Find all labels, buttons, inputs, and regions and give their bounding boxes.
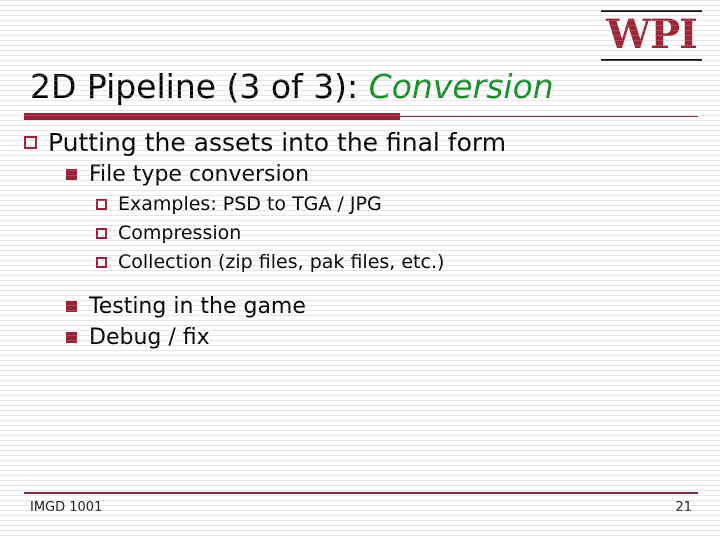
slide-title-main: 2D Pipeline (3 of 3): xyxy=(30,67,369,106)
square-hollow-bullet-icon xyxy=(96,248,118,277)
square-hollow-bullet-icon xyxy=(96,190,118,219)
slide-footer: IMGD 1001 21 xyxy=(30,499,692,517)
title-divider-thin xyxy=(400,116,698,117)
footer-divider xyxy=(24,492,698,494)
square-filled-bullet-icon xyxy=(66,291,89,322)
bullet-item-level3: Collection (zip files, pak files, etc.) xyxy=(96,248,704,277)
logo-rule-bottom xyxy=(601,59,702,61)
title-divider-thick xyxy=(24,113,400,120)
bullet-list: Putting the assets into the final form F… xyxy=(24,126,704,353)
square-filled-bullet-icon xyxy=(66,159,89,190)
bullet-item-level2: Testing in the game xyxy=(66,291,704,322)
bullet-text: Collection (zip files, pak files, etc.) xyxy=(118,248,444,277)
bullet-item-level3: Compression xyxy=(96,219,704,248)
bullet-text: Testing in the game xyxy=(89,291,306,322)
bullet-item-level3: Examples: PSD to TGA / JPG xyxy=(96,190,704,219)
bullet-text: Examples: PSD to TGA / JPG xyxy=(118,190,382,219)
slide-title-accent: Conversion xyxy=(369,67,554,106)
bullet-item-level2: File type conversion xyxy=(66,159,704,190)
slide: WPI 2D Pipeline (3 of 3): Conversion Put… xyxy=(0,0,720,540)
square-hollow-bullet-icon xyxy=(24,126,48,159)
bullet-text: Debug / fix xyxy=(89,322,210,353)
footer-course-label: IMGD 1001 xyxy=(30,499,102,517)
bullet-item-level1: Putting the assets into the final form xyxy=(24,126,704,159)
bullet-text: File type conversion xyxy=(89,159,309,190)
square-hollow-bullet-icon xyxy=(96,219,118,248)
wpi-logo: WPI xyxy=(601,10,702,61)
bullet-text: Putting the assets into the final form xyxy=(48,126,506,159)
title-divider xyxy=(24,113,698,121)
bullet-text: Compression xyxy=(118,219,241,248)
logo-wordmark: WPI xyxy=(601,12,702,59)
square-filled-bullet-icon xyxy=(66,322,89,353)
slide-title: 2D Pipeline (3 of 3): Conversion xyxy=(30,66,690,108)
footer-page-number: 21 xyxy=(675,499,692,517)
bullet-item-level2: Debug / fix xyxy=(66,322,704,353)
